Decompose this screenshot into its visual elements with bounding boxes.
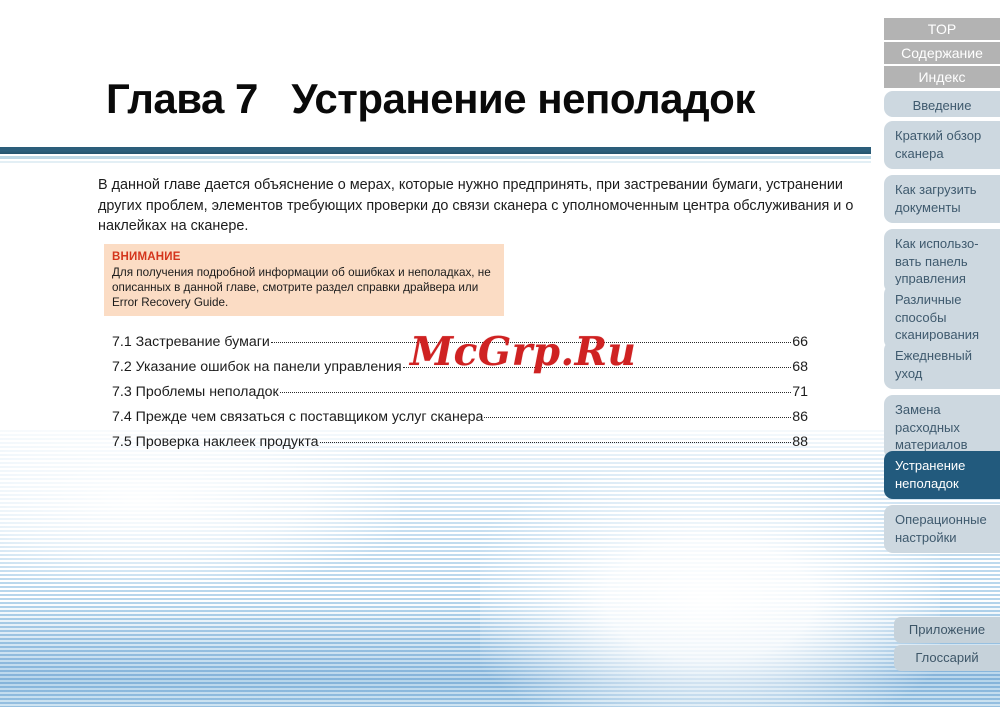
chapter-tab-rail: TOP Содержание Индекс Введение Краткий о… bbox=[884, 0, 1000, 707]
page-title: Глава 7 Устранение неполадок bbox=[106, 75, 755, 123]
tab-daily-care[interactable]: Ежедневный уход bbox=[884, 341, 1000, 389]
table-of-contents: 7.1 Застревание бумаги 66 7.2 Указание о… bbox=[112, 332, 808, 457]
tab-glossary[interactable]: Глоссарий bbox=[894, 645, 1000, 671]
toc-entry-label: 7.3 Проблемы неполадок bbox=[112, 384, 279, 400]
divider-bar-main bbox=[0, 147, 871, 154]
tab-scanner-overview[interactable]: Краткий обзор сканера bbox=[884, 121, 1000, 169]
toc-entry-page: 66 bbox=[792, 334, 808, 350]
caution-box: ВНИМАНИЕ Для получения подробной информа… bbox=[104, 244, 504, 316]
caution-title: ВНИМАНИЕ bbox=[112, 251, 504, 263]
toc-entry-page: 68 bbox=[792, 359, 808, 375]
toc-entry-label: 7.5 Проверка наклеек продукта bbox=[112, 434, 319, 450]
toc-entry[interactable]: 7.5 Проверка наклеек продукта 88 bbox=[112, 432, 808, 457]
tab-operator-panel[interactable]: Как использо-вать панель управления bbox=[884, 229, 1000, 293]
tab-index[interactable]: Индекс bbox=[884, 66, 1000, 88]
toc-entry[interactable]: 7.2 Указание ошибок на панели управления… bbox=[112, 357, 808, 382]
tab-introduction[interactable]: Введение bbox=[884, 91, 1000, 117]
toc-leader-dots bbox=[271, 332, 791, 346]
toc-entry-page: 88 bbox=[792, 434, 808, 450]
toc-leader-dots bbox=[484, 407, 791, 421]
tab-contents[interactable]: Содержание bbox=[884, 42, 1000, 64]
toc-entry-label: 7.2 Указание ошибок на панели управления bbox=[112, 359, 402, 375]
tab-scanning-methods[interactable]: Различные способы сканирования bbox=[884, 285, 1000, 349]
toc-entry-page: 86 bbox=[792, 409, 808, 425]
toc-entry[interactable]: 7.1 Застревание бумаги 66 bbox=[112, 332, 808, 357]
tab-top[interactable]: TOP bbox=[884, 18, 1000, 40]
toc-leader-dots bbox=[280, 382, 791, 396]
background-deep-band bbox=[0, 600, 1000, 707]
toc-leader-dots bbox=[320, 432, 792, 446]
toc-entry[interactable]: 7.3 Проблемы неполадок 71 bbox=[112, 382, 808, 407]
background-glow-right bbox=[480, 470, 940, 707]
intro-paragraph: В данной главе дается объяснение о мерах… bbox=[98, 175, 860, 237]
toc-leader-dots bbox=[403, 357, 792, 371]
manual-page: Глава 7 Устранение неполадок В данной гл… bbox=[0, 0, 1000, 707]
tab-loading-documents[interactable]: Как загрузить документы bbox=[884, 175, 1000, 223]
toc-entry-page: 71 bbox=[792, 384, 808, 400]
toc-entry-label: 7.4 Прежде чем связаться с поставщиком у… bbox=[112, 409, 483, 425]
tab-appendix[interactable]: Приложение bbox=[894, 617, 1000, 643]
tab-operational-settings[interactable]: Операционные настройки bbox=[884, 505, 1000, 553]
toc-entry-label: 7.1 Застревание бумаги bbox=[112, 334, 270, 350]
title-divider bbox=[0, 147, 871, 163]
toc-entry[interactable]: 7.4 Прежде чем связаться с поставщиком у… bbox=[112, 407, 808, 432]
divider-bar-faint bbox=[0, 161, 871, 163]
tab-troubleshooting[interactable]: Устранение неполадок bbox=[884, 451, 1000, 499]
tab-consumables[interactable]: Замена расходных материалов bbox=[884, 395, 1000, 459]
caution-body: Для получения подробной информации об ош… bbox=[112, 265, 496, 311]
